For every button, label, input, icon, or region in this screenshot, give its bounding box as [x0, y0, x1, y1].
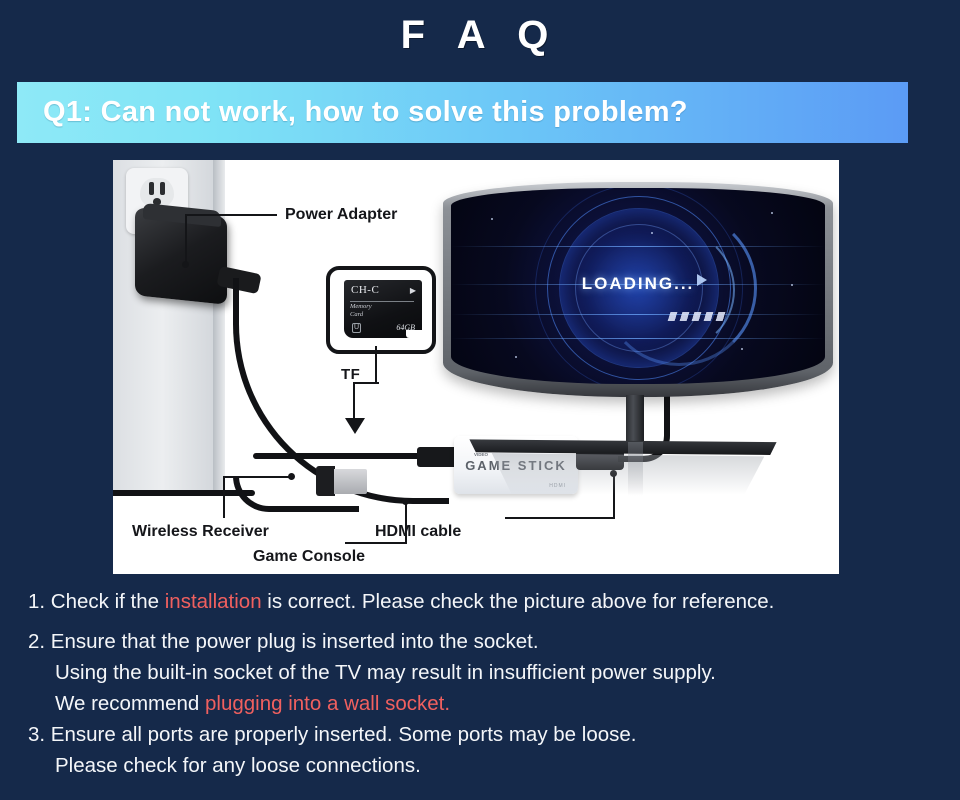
label-hdmi-cable: HDMI cable: [375, 523, 461, 541]
answer-text: is correct. Please check the picture abo…: [262, 590, 775, 613]
outlet-slot-left: [149, 182, 154, 195]
answer-text: We recommend: [55, 692, 205, 715]
label-power-adapter: Power Adapter: [285, 206, 397, 224]
power-adapter-leader-vertical: [185, 214, 187, 264]
answer-line: We recommend plugging into a wall socket…: [28, 688, 948, 719]
answer-line: 2. Ensure that the power plug is inserte…: [28, 626, 948, 657]
wireless-receiver-cap: [316, 466, 335, 496]
answer-text: 2. Ensure that the power plug is inserte…: [28, 630, 539, 653]
faq-page: F A Q Q1: Can not work, how to solve thi…: [0, 0, 960, 800]
tv-progress-blocks: [668, 312, 727, 321]
tv-stand-neck: [626, 395, 644, 443]
tf-card-capacity: 64GB: [396, 323, 415, 332]
answer-3: 3. Ensure all ports are properly inserte…: [28, 719, 948, 781]
power-adapter-leader-dot: [182, 261, 189, 268]
answer-text: 3. Ensure all ports are properly inserte…: [28, 723, 636, 746]
answer-line: Please check for any loose connections.: [28, 750, 948, 781]
tv-star: [515, 356, 517, 358]
tv-star: [651, 232, 653, 234]
power-usb-cable: [253, 453, 421, 459]
power-adapter-leader-horizontal: [185, 214, 277, 216]
tf-card-icon: CH-C ▶ Memory Card U 64GB: [344, 280, 422, 338]
wireless-receiver-leader-horizontal: [223, 476, 291, 478]
tf-card-memory-line1: Memory: [350, 303, 372, 310]
label-game-console: Game Console: [253, 548, 365, 566]
tv-scanline-3: [451, 314, 825, 315]
outlet-slot-right: [160, 182, 165, 195]
wireless-receiver-icon: [334, 469, 367, 494]
answer-text: Using the built-in socket of the TV may …: [55, 661, 716, 684]
answer-1: 1. Check if the installation is correct.…: [28, 586, 948, 617]
tv-stand-base: [463, 438, 783, 455]
tf-card-callout-box: CH-C ▶ Memory Card U 64GB: [326, 266, 436, 354]
tv-star: [741, 348, 743, 350]
tv-loading-text: LOADING...: [451, 274, 825, 294]
wireless-receiver-leader-dot: [288, 473, 295, 480]
label-tf: TF: [341, 366, 360, 383]
answer-text: Please check for any loose connections.: [55, 754, 421, 777]
tf-card-arrow-icon: ▶: [410, 286, 416, 295]
answer-2: 2. Ensure that the power plug is inserte…: [28, 626, 948, 719]
diagram-canvas: Power Adapter CH-C ▶ Memory Card U 64GB: [113, 160, 839, 574]
tf-card-divider: [350, 301, 414, 302]
tv-star: [771, 212, 773, 214]
wall-edge: [213, 160, 225, 490]
setup-diagram-image: Power Adapter CH-C ▶ Memory Card U 64GB: [113, 160, 839, 574]
game-console-leader-dot: [402, 498, 409, 505]
tv-star: [491, 218, 493, 220]
power-cord-tail: [113, 490, 255, 496]
tf-card-memory-text: Memory Card: [350, 303, 372, 319]
question-banner: Q1: Can not work, how to solve this prob…: [17, 82, 908, 143]
tf-card-brand: CH-C: [351, 284, 379, 296]
answer-list-host: 1. Check if the installation is correct.…: [28, 586, 948, 781]
game-console-leader-horizontal: [345, 542, 407, 544]
answer-highlight: installation: [165, 590, 262, 613]
television: LOADING...: [443, 172, 833, 472]
tv-scanline-4: [451, 338, 825, 339]
answer-line: 1. Check if the installation is correct.…: [28, 586, 948, 617]
answer-text: 1. Check if the: [28, 590, 165, 613]
tf-leader-vertical: [375, 346, 377, 382]
page-title: F A Q: [0, 10, 960, 60]
hdmi-leader-horizontal: [505, 517, 615, 519]
tv-scanline-1: [451, 246, 825, 247]
tf-insert-arrow-icon: [345, 418, 365, 434]
answer-highlight: plugging into a wall socket.: [205, 692, 450, 715]
tv-bezel: LOADING...: [443, 182, 833, 397]
wireless-receiver-leader-vertical: [223, 476, 225, 518]
answer-list: 1. Check if the installation is correct.…: [28, 586, 948, 781]
tf-card-speed-class: U: [352, 323, 361, 333]
label-wireless-receiver: Wireless Receiver: [132, 523, 269, 541]
tv-screen: LOADING...: [451, 188, 825, 384]
tv-base-reflection: [483, 453, 773, 495]
tf-card-memory-line2: Card: [350, 311, 363, 318]
answer-line: 3. Ensure all ports are properly inserte…: [28, 719, 948, 750]
question-banner-text: Q1: Can not work, how to solve this prob…: [43, 96, 688, 129]
answer-line: Using the built-in socket of the TV may …: [28, 657, 948, 688]
